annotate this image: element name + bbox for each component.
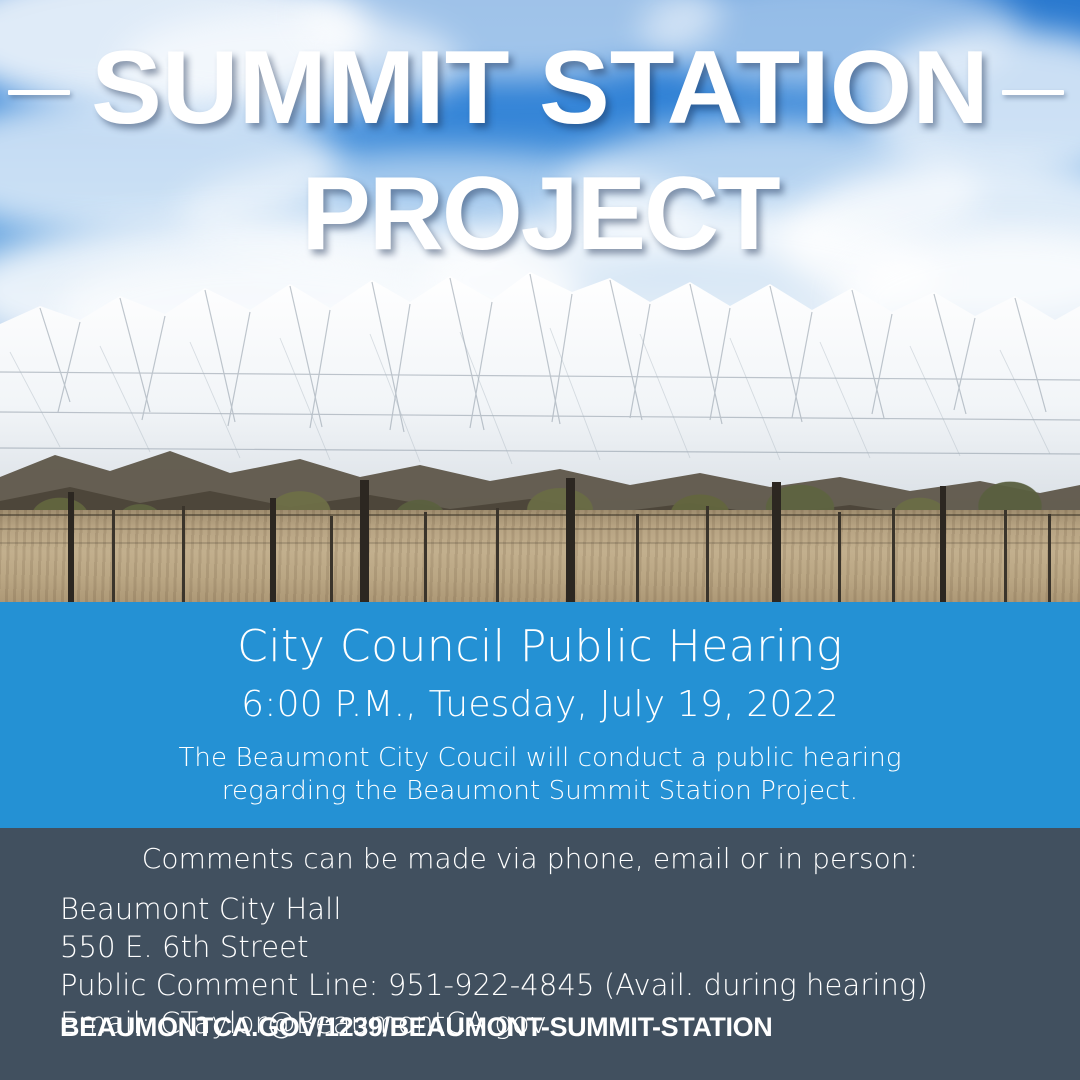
contact-line-city-hall: Beaumont City Hall (60, 890, 928, 928)
contact-line-phone[interactable]: Public Comment Line: 951-922-4845 (Avail… (60, 966, 928, 1004)
hearing-body-line-2: regarding the Beaumont Summit Station Pr… (0, 775, 1080, 808)
hearing-band: City Council Public Hearing 6:00 P.M., T… (0, 602, 1080, 828)
hearing-body-line-1: The Beaumont City Coucil will conduct a … (0, 742, 1080, 775)
fence (0, 470, 1080, 602)
contact-lead: Comments can be made via phone, email or… (0, 828, 1080, 876)
contact-line-address: 550 E. 6th Street (60, 928, 928, 966)
title-line-1: SUMMIT STATION (0, 36, 1080, 140)
title-block: SUMMIT STATION PROJECT (0, 0, 1080, 208)
project-url[interactable]: BEAUMONTCA.GOV/1239/BEAUMONT-SUMMIT-STAT… (60, 1012, 772, 1043)
hearing-body: The Beaumont City Coucil will conduct a … (0, 726, 1080, 808)
hearing-datetime: 6:00 P.M., Tuesday, July 19, 2022 (0, 672, 1080, 726)
hearing-heading: City Council Public Hearing (0, 602, 1080, 672)
flyer-canvas: SUMMIT STATION PROJECT City Council Publ… (0, 0, 1080, 1080)
title-line-2: PROJECT (0, 162, 1080, 266)
